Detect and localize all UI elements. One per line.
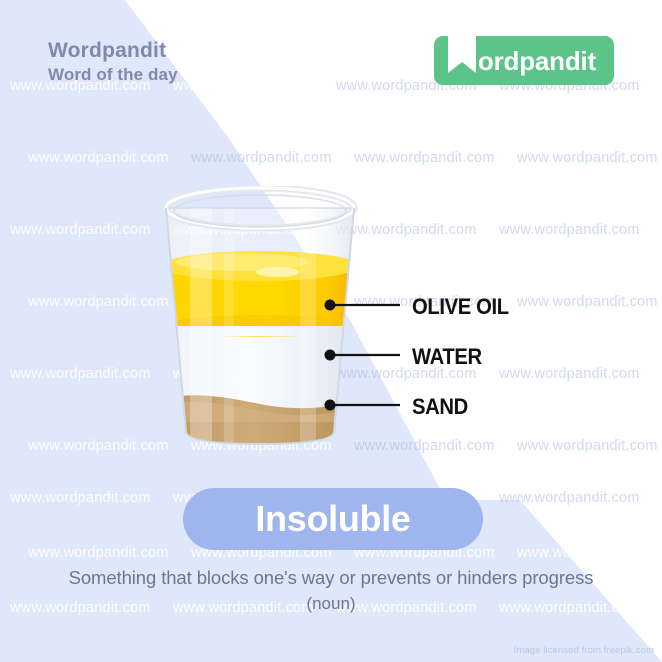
- bookmark-icon: [448, 29, 476, 73]
- word-of-the-day-card: www.wordpandit.com www.wordpandit.com ww…: [0, 0, 662, 662]
- label-water: WATER: [412, 344, 482, 370]
- leader-lines: [0, 0, 662, 662]
- wordpandit-logo[interactable]: ordpandit: [434, 36, 614, 85]
- logo-text: ordpandit: [478, 48, 596, 74]
- leader-dot-sand: [325, 400, 336, 411]
- definition-block: Something that blocks one's way or preve…: [0, 566, 662, 616]
- leader-dot-water: [325, 350, 336, 361]
- page-subtitle: Word of the day: [48, 64, 178, 85]
- definition-text: Something that blocks one's way or preve…: [0, 566, 662, 591]
- label-olive-oil: OLIVE OIL: [412, 294, 509, 320]
- brand-title: Wordpandit: [48, 38, 178, 64]
- word-text: Insoluble: [255, 498, 410, 540]
- word-pill: Insoluble: [183, 488, 483, 550]
- label-sand: SAND: [412, 394, 468, 420]
- image-credit: Image licensed from freepik.com: [514, 645, 654, 656]
- callouts: OLIVE OIL WATER SAND: [0, 0, 662, 662]
- logo-background: ordpandit: [434, 36, 614, 85]
- header: Wordpandit Word of the day: [48, 38, 178, 86]
- part-of-speech: (noun): [0, 593, 662, 616]
- leader-dot-oil: [325, 300, 336, 311]
